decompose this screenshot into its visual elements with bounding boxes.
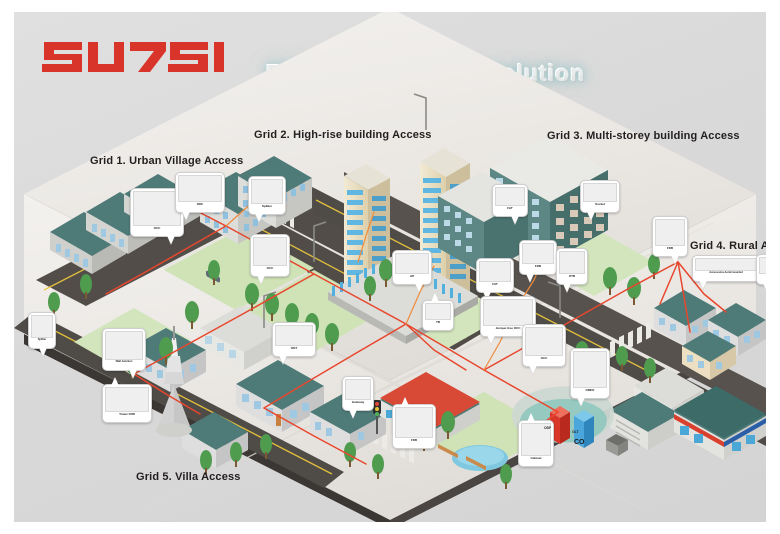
callout-tb[interactable]: TB bbox=[422, 300, 454, 331]
callout-image-occ-2 bbox=[253, 237, 287, 266]
callout-label-socket-2: Socket bbox=[759, 274, 766, 278]
callout-image-ap bbox=[395, 253, 429, 274]
callout-image-fat-1 bbox=[479, 261, 511, 282]
callout-image-tower-fdb bbox=[105, 387, 149, 412]
callout-image-occ-1 bbox=[133, 191, 181, 226]
callout-fdb-1[interactable]: FDB bbox=[519, 240, 557, 275]
callout-tail bbox=[526, 273, 534, 282]
callout-label-fat-1: FAT bbox=[479, 282, 511, 286]
callout-tail bbox=[527, 413, 535, 422]
callout-label-fdb-2: FDB bbox=[655, 246, 685, 250]
callout-image-fdb-2 bbox=[655, 219, 685, 246]
callout-label-accessories: Accessories Aerial mounted bbox=[695, 271, 757, 275]
callout-tail bbox=[129, 369, 137, 378]
callout-image-splitter-2 bbox=[31, 315, 53, 338]
callout-tail bbox=[39, 347, 47, 356]
callout-label-gateway: Gateway bbox=[345, 400, 371, 404]
callout-tail bbox=[279, 355, 287, 364]
callout-image-occ-3 bbox=[525, 327, 563, 356]
grid-label-2: Grid 2. High-rise building Access bbox=[254, 129, 432, 141]
poster-root: FTTH Deployment Solution FTTH Deployment… bbox=[0, 0, 780, 534]
callout-tail bbox=[111, 377, 119, 386]
callout-tail bbox=[257, 275, 265, 284]
callout-tail bbox=[587, 211, 595, 220]
callout-tail bbox=[182, 211, 190, 220]
callout-tail bbox=[563, 283, 571, 292]
callout-image-fat-2 bbox=[495, 187, 525, 206]
callout-wall-junction[interactable]: Wall Junction bbox=[102, 328, 146, 371]
poster-board: FTTH Deployment Solution FTTH Deployment… bbox=[14, 12, 766, 522]
callout-tail bbox=[415, 283, 423, 292]
callout-socket-1[interactable]: Socket bbox=[580, 180, 620, 213]
callout-label-occ-1: OCC bbox=[133, 226, 181, 230]
callout-fdb-3[interactable]: FDB bbox=[392, 404, 436, 449]
callout-label-fat-2: FAT bbox=[495, 206, 525, 210]
callout-label-tb: TB bbox=[425, 320, 451, 324]
callout-tail bbox=[487, 335, 495, 344]
callout-label-socket-1: Socket bbox=[583, 202, 617, 206]
scene-illustration bbox=[14, 12, 766, 522]
callout-tail bbox=[431, 293, 439, 302]
callout-fat-2[interactable]: FAT bbox=[492, 184, 528, 217]
callout-occ-3[interactable]: OCC bbox=[522, 324, 566, 367]
callout-ont[interactable]: ONT bbox=[272, 322, 316, 357]
callout-label-wall-junction: Wall Junction bbox=[105, 360, 143, 364]
callout-image-ont bbox=[275, 325, 313, 346]
callout-label-fdb-3: FDB bbox=[395, 438, 433, 442]
callout-label-otb: OTB bbox=[559, 274, 585, 278]
callout-label-tower-fdb: Tower FDB bbox=[105, 412, 149, 416]
callout-image-wall-junction bbox=[105, 331, 143, 360]
grid-label-4: Grid 4. Rural Access bbox=[690, 240, 766, 252]
callout-tail bbox=[255, 213, 263, 222]
callout-gateway[interactable]: Gateway bbox=[342, 376, 374, 411]
callout-label-cabinet: Cabinet bbox=[521, 456, 551, 460]
callout-tail bbox=[167, 235, 175, 244]
callout-label-fdb-1: FDB bbox=[522, 264, 554, 268]
callout-tower-fdb[interactable]: Tower FDB bbox=[102, 384, 152, 423]
callout-image-jumper-free-occ bbox=[483, 299, 533, 326]
callout-label-splitter-2: Splitter bbox=[31, 338, 53, 342]
callout-ap[interactable]: AP bbox=[392, 250, 432, 285]
callout-image-socket-1 bbox=[583, 183, 617, 202]
callout-odf-1[interactable]: ODF bbox=[175, 172, 225, 213]
callout-image-fdb-3 bbox=[395, 407, 433, 438]
callout-image-accessories bbox=[695, 258, 757, 271]
isometric-scene bbox=[14, 12, 766, 522]
site-label-olt: OLT bbox=[572, 430, 579, 434]
callout-otb[interactable]: OTB bbox=[556, 248, 588, 285]
callout-accessories-aerial-mounted[interactable]: Accessories Aerial mounted bbox=[692, 255, 760, 282]
callout-fat-1[interactable]: FAT bbox=[476, 258, 514, 293]
callout-label-omdf: OMDF bbox=[573, 388, 607, 392]
callout-image-splitter-1 bbox=[251, 179, 283, 204]
callout-tail bbox=[511, 215, 519, 224]
callout-tail bbox=[529, 365, 537, 374]
callout-image-odf-1 bbox=[178, 175, 222, 202]
callout-splitter-1[interactable]: Splitter bbox=[248, 176, 286, 215]
callout-image-tb bbox=[425, 303, 451, 320]
site-label-co: CO bbox=[574, 439, 585, 446]
callout-tail bbox=[699, 280, 707, 289]
callout-omdf[interactable]: OMDF bbox=[570, 348, 610, 399]
callout-label-occ-3: OCC bbox=[525, 356, 563, 360]
callout-label-odf-1: ODF bbox=[178, 202, 222, 206]
callout-splitter-2[interactable]: Splitter bbox=[28, 312, 56, 349]
callout-label-ont: ONT bbox=[275, 346, 313, 350]
callout-occ-2[interactable]: OCC bbox=[250, 234, 290, 277]
grid-label-1: Grid 1. Urban Village Access bbox=[90, 155, 243, 167]
callout-label-splitter-1: Splitter bbox=[251, 204, 283, 208]
callout-label-occ-2: OCC bbox=[253, 266, 287, 270]
site-label-odf: ODF bbox=[544, 426, 551, 430]
callout-image-otb bbox=[559, 251, 585, 274]
callout-tail bbox=[577, 397, 585, 406]
callout-image-fdb-1 bbox=[522, 243, 554, 264]
callout-image-socket-2 bbox=[759, 257, 766, 274]
callout-label-ap: AP bbox=[395, 274, 429, 278]
callout-tail bbox=[763, 283, 766, 292]
grid-label-3: Grid 3. Multi-storey building Access bbox=[547, 130, 740, 142]
callout-fdb-2[interactable]: FDB bbox=[652, 216, 688, 257]
callout-tail bbox=[401, 397, 409, 406]
callout-tail bbox=[671, 255, 679, 264]
callout-socket-2[interactable]: Socket bbox=[756, 254, 766, 285]
callout-image-omdf bbox=[573, 351, 607, 388]
grid-label-5: Grid 5. Villa Access bbox=[136, 471, 241, 483]
callout-image-gateway bbox=[345, 379, 371, 400]
callout-tail bbox=[349, 409, 357, 418]
